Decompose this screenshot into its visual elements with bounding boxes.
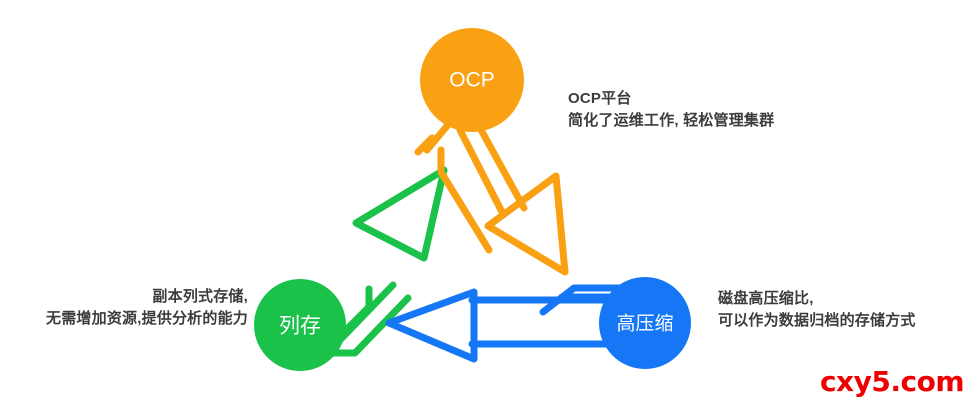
node-columnar-label: 列存: [279, 315, 321, 338]
node-ocp-label: OCP: [449, 69, 495, 92]
diagram-canvas: OCP 列存 高压缩 OCP平台 简化了运维工作, 轻松管理集群 副本列式存储,…: [0, 0, 974, 404]
watermark: cxy5.com: [820, 365, 964, 398]
annotation-compress: 磁盘高压缩比, 可以作为数据归档的存储方式: [718, 288, 916, 332]
annotation-columnar-line1: 副本列式存储,: [8, 286, 248, 308]
diagram-graphic: OCP 列存 高压缩: [0, 0, 974, 404]
arrowhead-orange: [488, 176, 565, 272]
annotation-ocp-line1: OCP平台: [568, 88, 774, 110]
node-columnar[interactable]: 列存: [254, 279, 346, 371]
arrowhead-green: [356, 170, 444, 258]
node-compress[interactable]: 高压缩: [599, 277, 691, 369]
annotation-columnar: 副本列式存储, 无需增加资源,提供分析的能力: [8, 286, 248, 330]
annotation-compress-line1: 磁盘高压缩比,: [718, 288, 916, 310]
annotation-columnar-line2: 无需增加资源,提供分析的能力: [8, 308, 248, 330]
node-ocp[interactable]: OCP: [420, 28, 524, 132]
annotation-ocp-line2: 简化了运维工作, 轻松管理集群: [568, 110, 774, 132]
annotation-compress-line2: 可以作为数据归档的存储方式: [718, 310, 916, 332]
annotation-ocp: OCP平台 简化了运维工作, 轻松管理集群: [568, 88, 774, 132]
node-compress-label: 高压缩: [616, 313, 673, 335]
